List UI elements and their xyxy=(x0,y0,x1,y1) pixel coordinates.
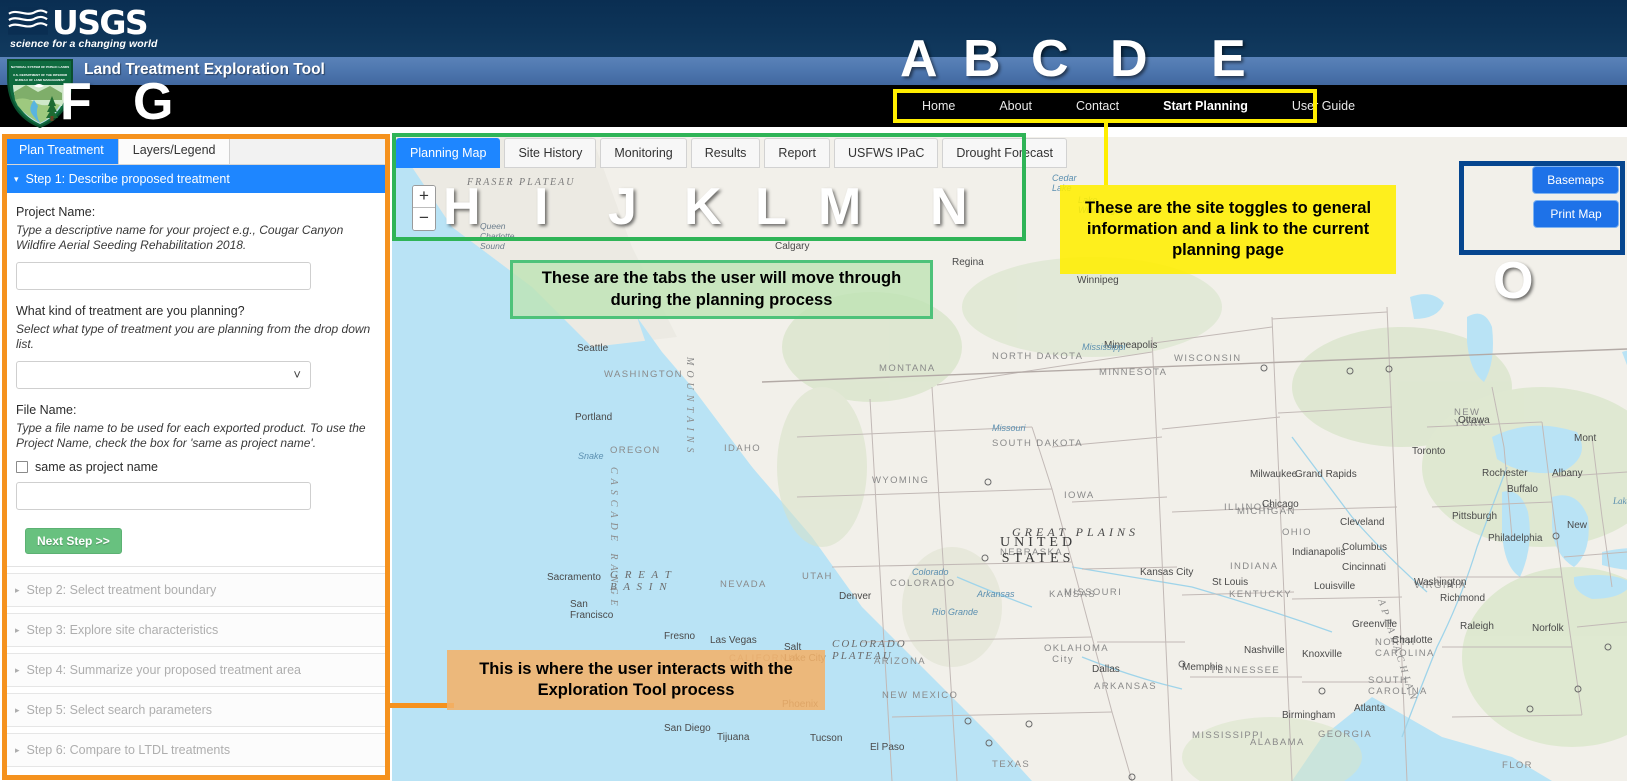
annotation-letter-k: K xyxy=(684,181,722,233)
annotation-letter-i: I xyxy=(534,181,548,233)
annotation-letter-g: G xyxy=(133,76,173,128)
annotation-leader-nav xyxy=(1104,123,1108,185)
annotation-letter-n: N xyxy=(930,181,968,233)
annotation-letter-d: D xyxy=(1110,33,1148,85)
annotation-letter-l: L xyxy=(755,181,787,233)
svg-text:NATIONAL SYSTEM OF PUBLIC LAND: NATIONAL SYSTEM OF PUBLIC LANDS xyxy=(11,65,69,69)
annotation-letter-a: A xyxy=(900,33,938,85)
callout-site-toggles: These are the site toggles to general in… xyxy=(1060,185,1396,274)
page-title: Land Treatment Exploration Tool xyxy=(84,61,325,79)
main-nav-bar: Home About Contact Start Planning User G… xyxy=(0,85,1627,127)
usgs-wordmark: USGS xyxy=(52,3,147,42)
annotation-letter-j: J xyxy=(608,181,637,233)
usgs-header: USGS science for a changing world xyxy=(0,0,1627,57)
annotation-leader-left-panel xyxy=(388,703,454,708)
annotation-rect-left-panel xyxy=(2,134,390,780)
annotation-rect-map-buttons xyxy=(1459,161,1625,255)
annotation-letter-e: E xyxy=(1211,33,1246,85)
usgs-wave-icon xyxy=(8,7,48,35)
usgs-tagline: science for a changing world xyxy=(10,38,158,50)
annotation-letter-c: C xyxy=(1031,33,1069,85)
annotation-letter-o: O xyxy=(1493,255,1533,307)
usgs-logo: USGS science for a changing world xyxy=(8,5,126,53)
callout-planning-tabs: These are the tabs the user will move th… xyxy=(510,260,933,319)
annotation-rect-nav xyxy=(893,89,1317,123)
annotation-letter-m: M xyxy=(818,181,861,233)
app-title-bar: Land Treatment Exploration Tool xyxy=(0,57,1627,85)
callout-exploration-tool: This is where the user interacts with th… xyxy=(447,650,825,710)
svg-text:Lake Superior: Lake Superior xyxy=(1612,496,1627,506)
svg-text:BUREAU OF LAND MANAGEMENT: BUREAU OF LAND MANAGEMENT xyxy=(15,78,65,82)
annotation-letter-f: F xyxy=(60,76,92,128)
annotation-letter-h: H xyxy=(443,181,481,233)
annotation-letter-b: B xyxy=(963,33,1001,85)
